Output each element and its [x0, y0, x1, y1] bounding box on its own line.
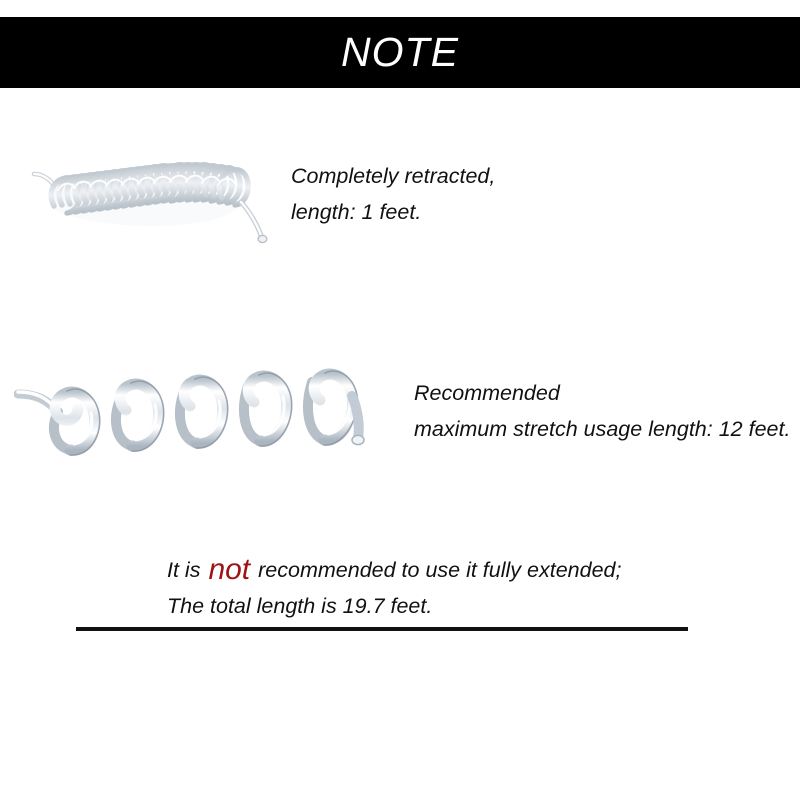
warning-suffix: recommended to use it fully extended; — [258, 558, 621, 582]
bottom-divider — [76, 627, 688, 631]
caption-warning-line2: The total length is 19.7 feet. — [167, 588, 621, 624]
warning-emphasis-not: not — [206, 553, 252, 586]
caption-retracted-line1: Completely retracted, — [291, 158, 495, 194]
caption-warning-line1: It is not recommended to use it fully ex… — [167, 552, 621, 588]
caption-retracted: Completely retracted, length: 1 feet. — [291, 158, 495, 230]
caption-stretch-line1: Recommended — [414, 375, 790, 411]
caption-retracted-line2: length: 1 feet. — [291, 194, 495, 230]
coiled-retracted-hose-icon — [28, 150, 278, 260]
note-infographic: NOTE — [0, 0, 800, 800]
warning-prefix: It is — [167, 558, 200, 582]
caption-stretch: Recommended maximum stretch usage length… — [414, 375, 790, 447]
coiled-retracted-hose-image — [28, 150, 278, 265]
page-title: NOTE — [341, 32, 459, 73]
caption-warning: It is not recommended to use it fully ex… — [167, 552, 621, 624]
stretched-coil-hose-image — [14, 358, 384, 483]
caption-stretch-line2: maximum stretch usage length: 12 feet. — [414, 411, 790, 447]
stretched-coil-hose-icon — [14, 358, 384, 478]
note-header-bar: NOTE — [0, 17, 800, 88]
